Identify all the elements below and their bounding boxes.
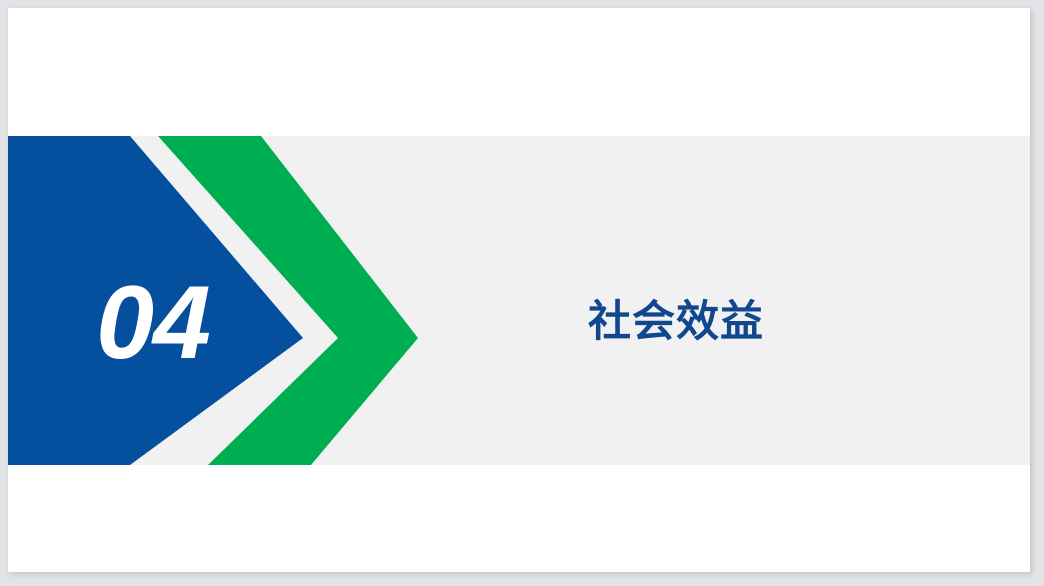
section-title: 社会效益 — [588, 298, 764, 346]
section-number: 04 — [68, 271, 238, 375]
slide-canvas: 04 社会效益 — [8, 8, 1030, 572]
